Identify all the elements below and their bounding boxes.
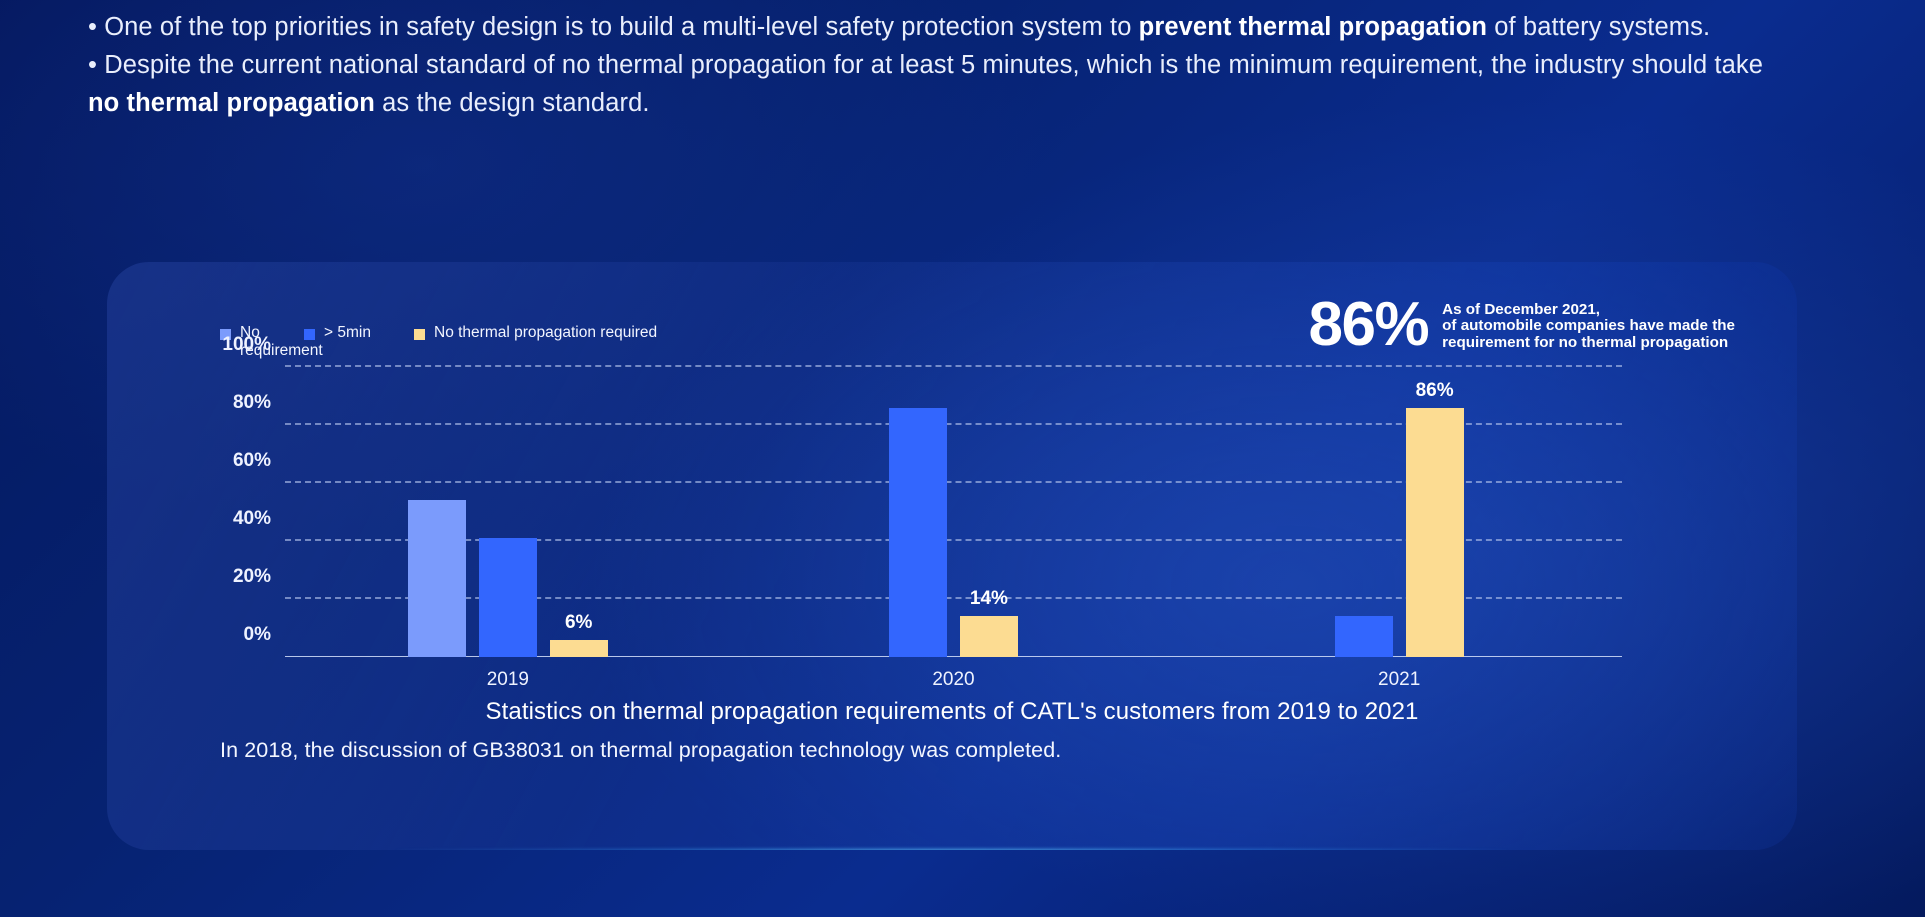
y-axis-tick-label: 0% — [244, 624, 271, 646]
x-axis-tick-label: 2020 — [932, 669, 974, 691]
callout-description: As of December 2021, of automobile compa… — [1442, 299, 1735, 351]
y-axis-tick-label: 80% — [233, 392, 271, 414]
bullet-text: • Despite the current national standard … — [88, 51, 1770, 79]
legend-label: > 5min — [324, 324, 371, 342]
legend-swatch-icon — [304, 329, 315, 340]
bar[interactable] — [889, 408, 947, 657]
y-axis-tick-label: 40% — [233, 508, 271, 530]
callout-percentage: 86% — [1309, 294, 1429, 356]
legend-label: No thermal propagation required — [434, 324, 657, 342]
bullet-text: of battery systems. — [1487, 13, 1710, 41]
bar[interactable] — [479, 538, 537, 657]
bar-value-label: 6% — [565, 612, 592, 634]
bullet-emphasis: no thermal propagation — [88, 89, 375, 117]
bar[interactable]: 6% — [550, 640, 608, 657]
x-axis-tick-label: 2021 — [1378, 669, 1420, 691]
y-axis-tick-label: 20% — [233, 566, 271, 588]
legend-swatch-icon — [414, 329, 425, 340]
plot-area: 0%20%40%60%80%100%6%201914%202086%2021 — [285, 367, 1622, 657]
chart-card: No requirement > 5min No thermal propaga… — [107, 262, 1797, 850]
bar[interactable]: 86% — [1406, 408, 1464, 657]
bullet-line: • One of the top priorities in safety de… — [88, 8, 1788, 46]
legend-item-over-5min[interactable]: > 5min — [304, 324, 414, 342]
card-bottom-glow — [394, 848, 1509, 850]
bar[interactable] — [408, 500, 466, 657]
y-axis-tick-label: 60% — [233, 450, 271, 472]
gridline — [285, 365, 1622, 367]
bar-value-label: 86% — [1416, 380, 1454, 402]
chart-title: Statistics on thermal propagation requir… — [107, 698, 1797, 726]
bullet-text: • One of the top priorities in safety de… — [88, 13, 1139, 41]
legend-item-no-thermal-propagation-required[interactable]: No thermal propagation required — [414, 324, 657, 342]
bullet-text-block: • One of the top priorities in safety de… — [88, 8, 1788, 122]
bullet-line: • Despite the current national standard … — [88, 46, 1788, 122]
bar-value-label: 14% — [970, 588, 1008, 610]
chart-legend: No requirement > 5min No thermal propaga… — [220, 324, 657, 360]
highlight-callout: 86% As of December 2021, of automobile c… — [1309, 294, 1735, 356]
x-axis-tick-label: 2019 — [487, 669, 529, 691]
bullet-text: as the design standard. — [375, 89, 650, 117]
y-axis-tick-label: 100% — [222, 334, 271, 356]
bar[interactable] — [1335, 616, 1393, 657]
chart-footnote: In 2018, the discussion of GB38031 on th… — [220, 738, 1061, 763]
bullet-emphasis: prevent thermal propagation — [1139, 13, 1487, 41]
bar[interactable]: 14% — [960, 616, 1018, 657]
